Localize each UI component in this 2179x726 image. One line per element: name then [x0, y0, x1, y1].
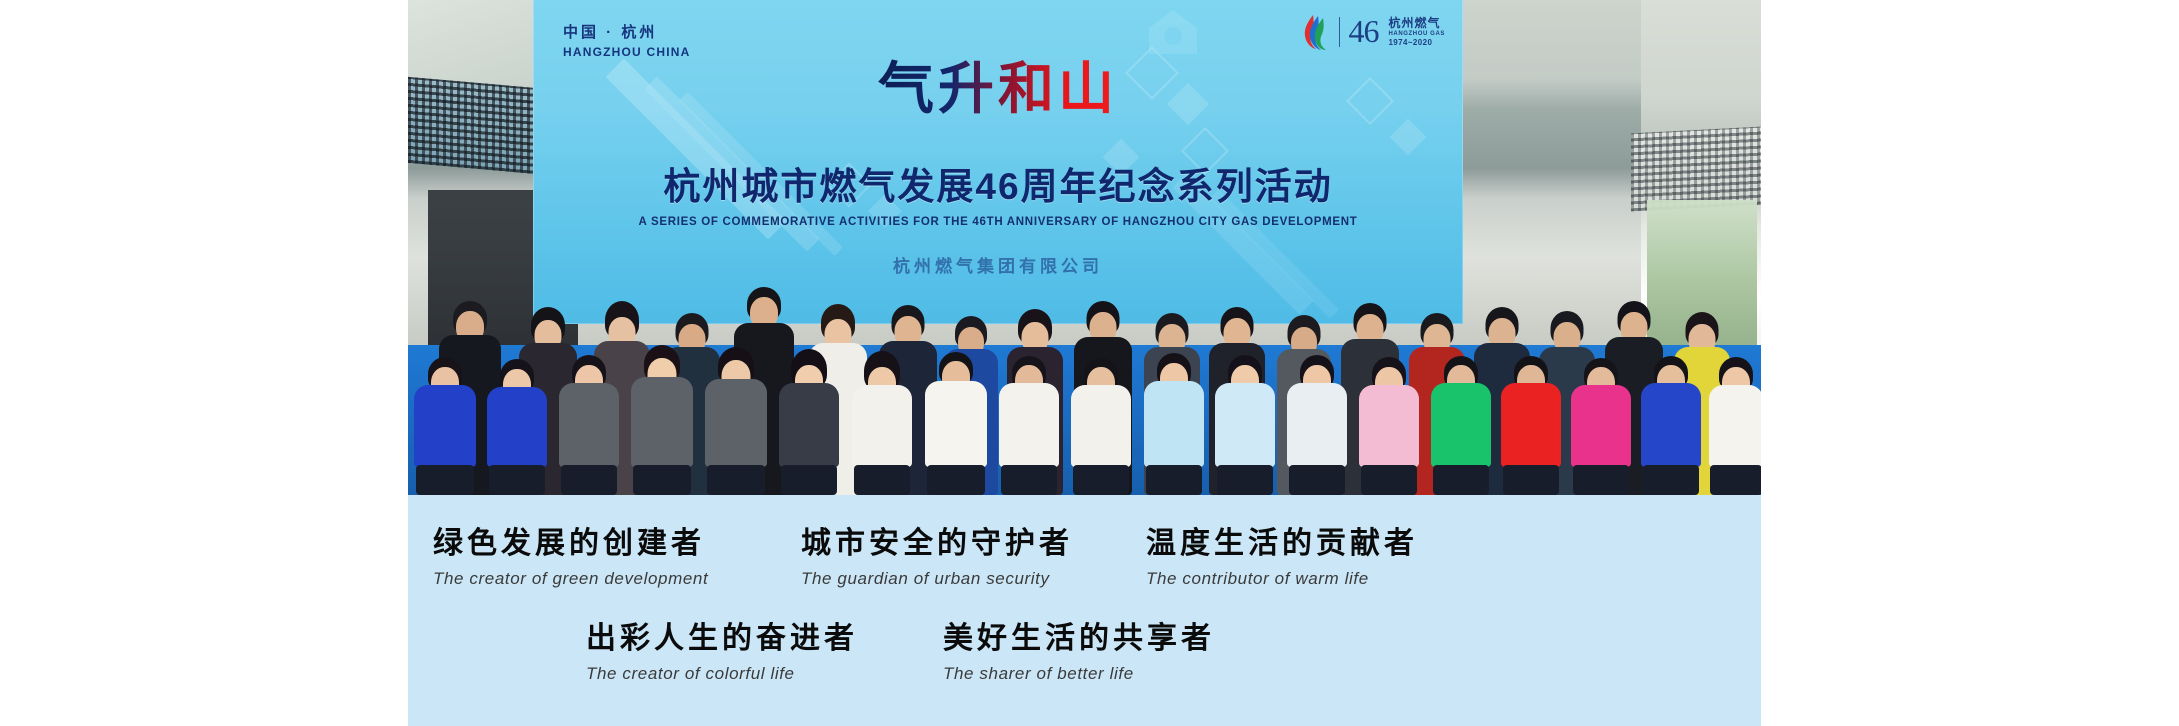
person-front — [1286, 343, 1348, 495]
house-icon — [1145, 6, 1201, 56]
person-front — [1214, 343, 1276, 495]
person-front — [413, 345, 477, 495]
person-front — [486, 347, 548, 495]
hangzhou-gas-brandmark: 46 杭州燃气 HANGZHOU GAS 1974~2020 — [1301, 14, 1445, 50]
person-front — [1358, 345, 1420, 495]
event-logotype: 气升和山 — [878, 44, 1118, 125]
company-name-en: HANGZHOU GAS — [1388, 31, 1445, 38]
slogan-row-1: 绿色发展的创建者 The creator of green developmen… — [433, 527, 1738, 589]
anniversary-number: 46 — [1348, 15, 1380, 50]
person-front — [924, 339, 988, 495]
slogan-row-2: 出彩人生的奋进者 The creator of colorful life 美好… — [586, 622, 1586, 684]
location-cn: 中国 · 杭州 — [563, 22, 690, 44]
person-front — [1708, 345, 1761, 495]
slogan-item: 美好生活的共享者 The sharer of better life — [943, 622, 1273, 684]
slogan-cn: 美好生活的共享者 — [943, 622, 1273, 657]
person-front — [630, 333, 694, 495]
location-en: HANGZHOU CHINA — [563, 44, 690, 61]
content-column: 中国 · 杭州 HANGZHOU CHINA 46 杭州燃气 HANGZHOU … — [408, 0, 1761, 726]
slogan-panel: 绿色发展的创建者 The creator of green developmen… — [408, 495, 1761, 726]
slogan-item: 城市安全的守护者 The guardian of urban security — [801, 527, 1131, 589]
brandmark-text: 杭州燃气 HANGZHOU GAS 1974~2020 — [1388, 17, 1445, 47]
person-front — [1430, 343, 1492, 495]
person-front — [1070, 345, 1132, 495]
person-front — [1500, 343, 1562, 495]
person-front — [1143, 341, 1205, 495]
brandmark-divider — [1339, 17, 1340, 47]
person-front — [1640, 343, 1702, 495]
slogan-item: 绿色发展的创建者 The creator of green developmen… — [433, 527, 788, 589]
slogan-en: The guardian of urban security — [801, 569, 1131, 589]
slogan-cn: 温度生活的贡献者 — [1146, 527, 1476, 562]
slogan-en: The sharer of better life — [943, 664, 1273, 684]
slogan-en: The creator of colorful life — [586, 664, 931, 684]
slogan-item: 出彩人生的奋进者 The creator of colorful life — [586, 622, 931, 684]
person-front — [704, 337, 768, 495]
person-front — [1570, 345, 1632, 495]
slogan-cn: 出彩人生的奋进者 — [586, 622, 931, 657]
slogan-cn: 绿色发展的创建者 — [433, 527, 788, 562]
slogan-cn: 城市安全的守护者 — [801, 527, 1131, 562]
banner-location-block: 中国 · 杭州 HANGZHOU CHINA — [563, 22, 690, 61]
slogan-en: The creator of green development — [433, 569, 788, 589]
page-root: 中国 · 杭州 HANGZHOU CHINA 46 杭州燃气 HANGZHOU … — [0, 0, 2179, 726]
person-front — [778, 343, 840, 495]
brandmark-years: 1974~2020 — [1388, 38, 1445, 47]
event-group-photo: 中国 · 杭州 HANGZHOU CHINA 46 杭州燃气 HANGZHOU … — [408, 0, 1761, 495]
slogan-item: 温度生活的贡献者 The contributor of warm life — [1146, 527, 1476, 589]
flame-logo-icon — [1301, 14, 1331, 50]
group-photo-people — [408, 170, 1761, 495]
person-front — [851, 345, 913, 495]
company-name-cn: 杭州燃气 — [1388, 17, 1445, 31]
person-front — [558, 343, 620, 495]
person-front — [998, 343, 1060, 495]
slogan-en: The contributor of warm life — [1146, 569, 1476, 589]
